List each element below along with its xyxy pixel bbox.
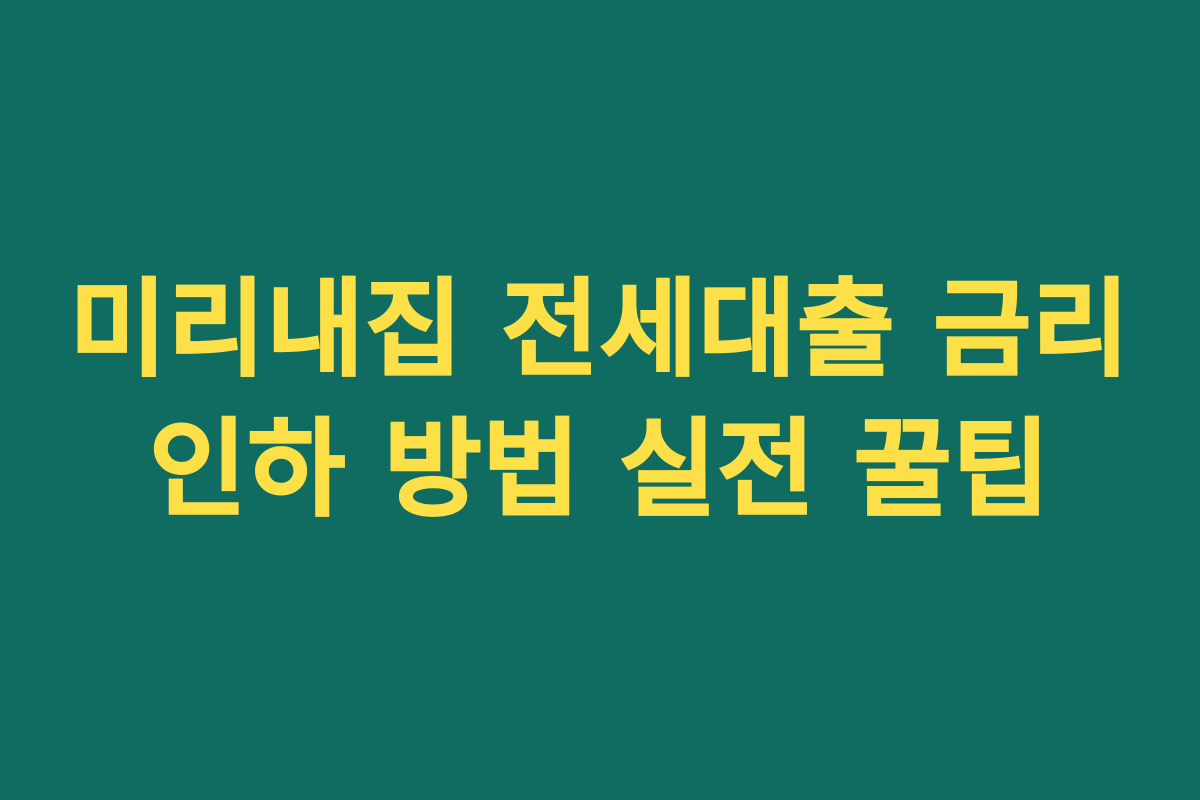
headline-block: 미리내집 전세대출 금리 인하 방법 실전 꿀팁 xyxy=(0,260,1200,540)
banner-canvas: 미리내집 전세대출 금리 인하 방법 실전 꿀팁 xyxy=(0,0,1200,800)
headline-line-1: 미리내집 전세대출 금리 xyxy=(0,260,1200,400)
headline-line-2: 인하 방법 실전 꿀팁 xyxy=(0,400,1200,540)
